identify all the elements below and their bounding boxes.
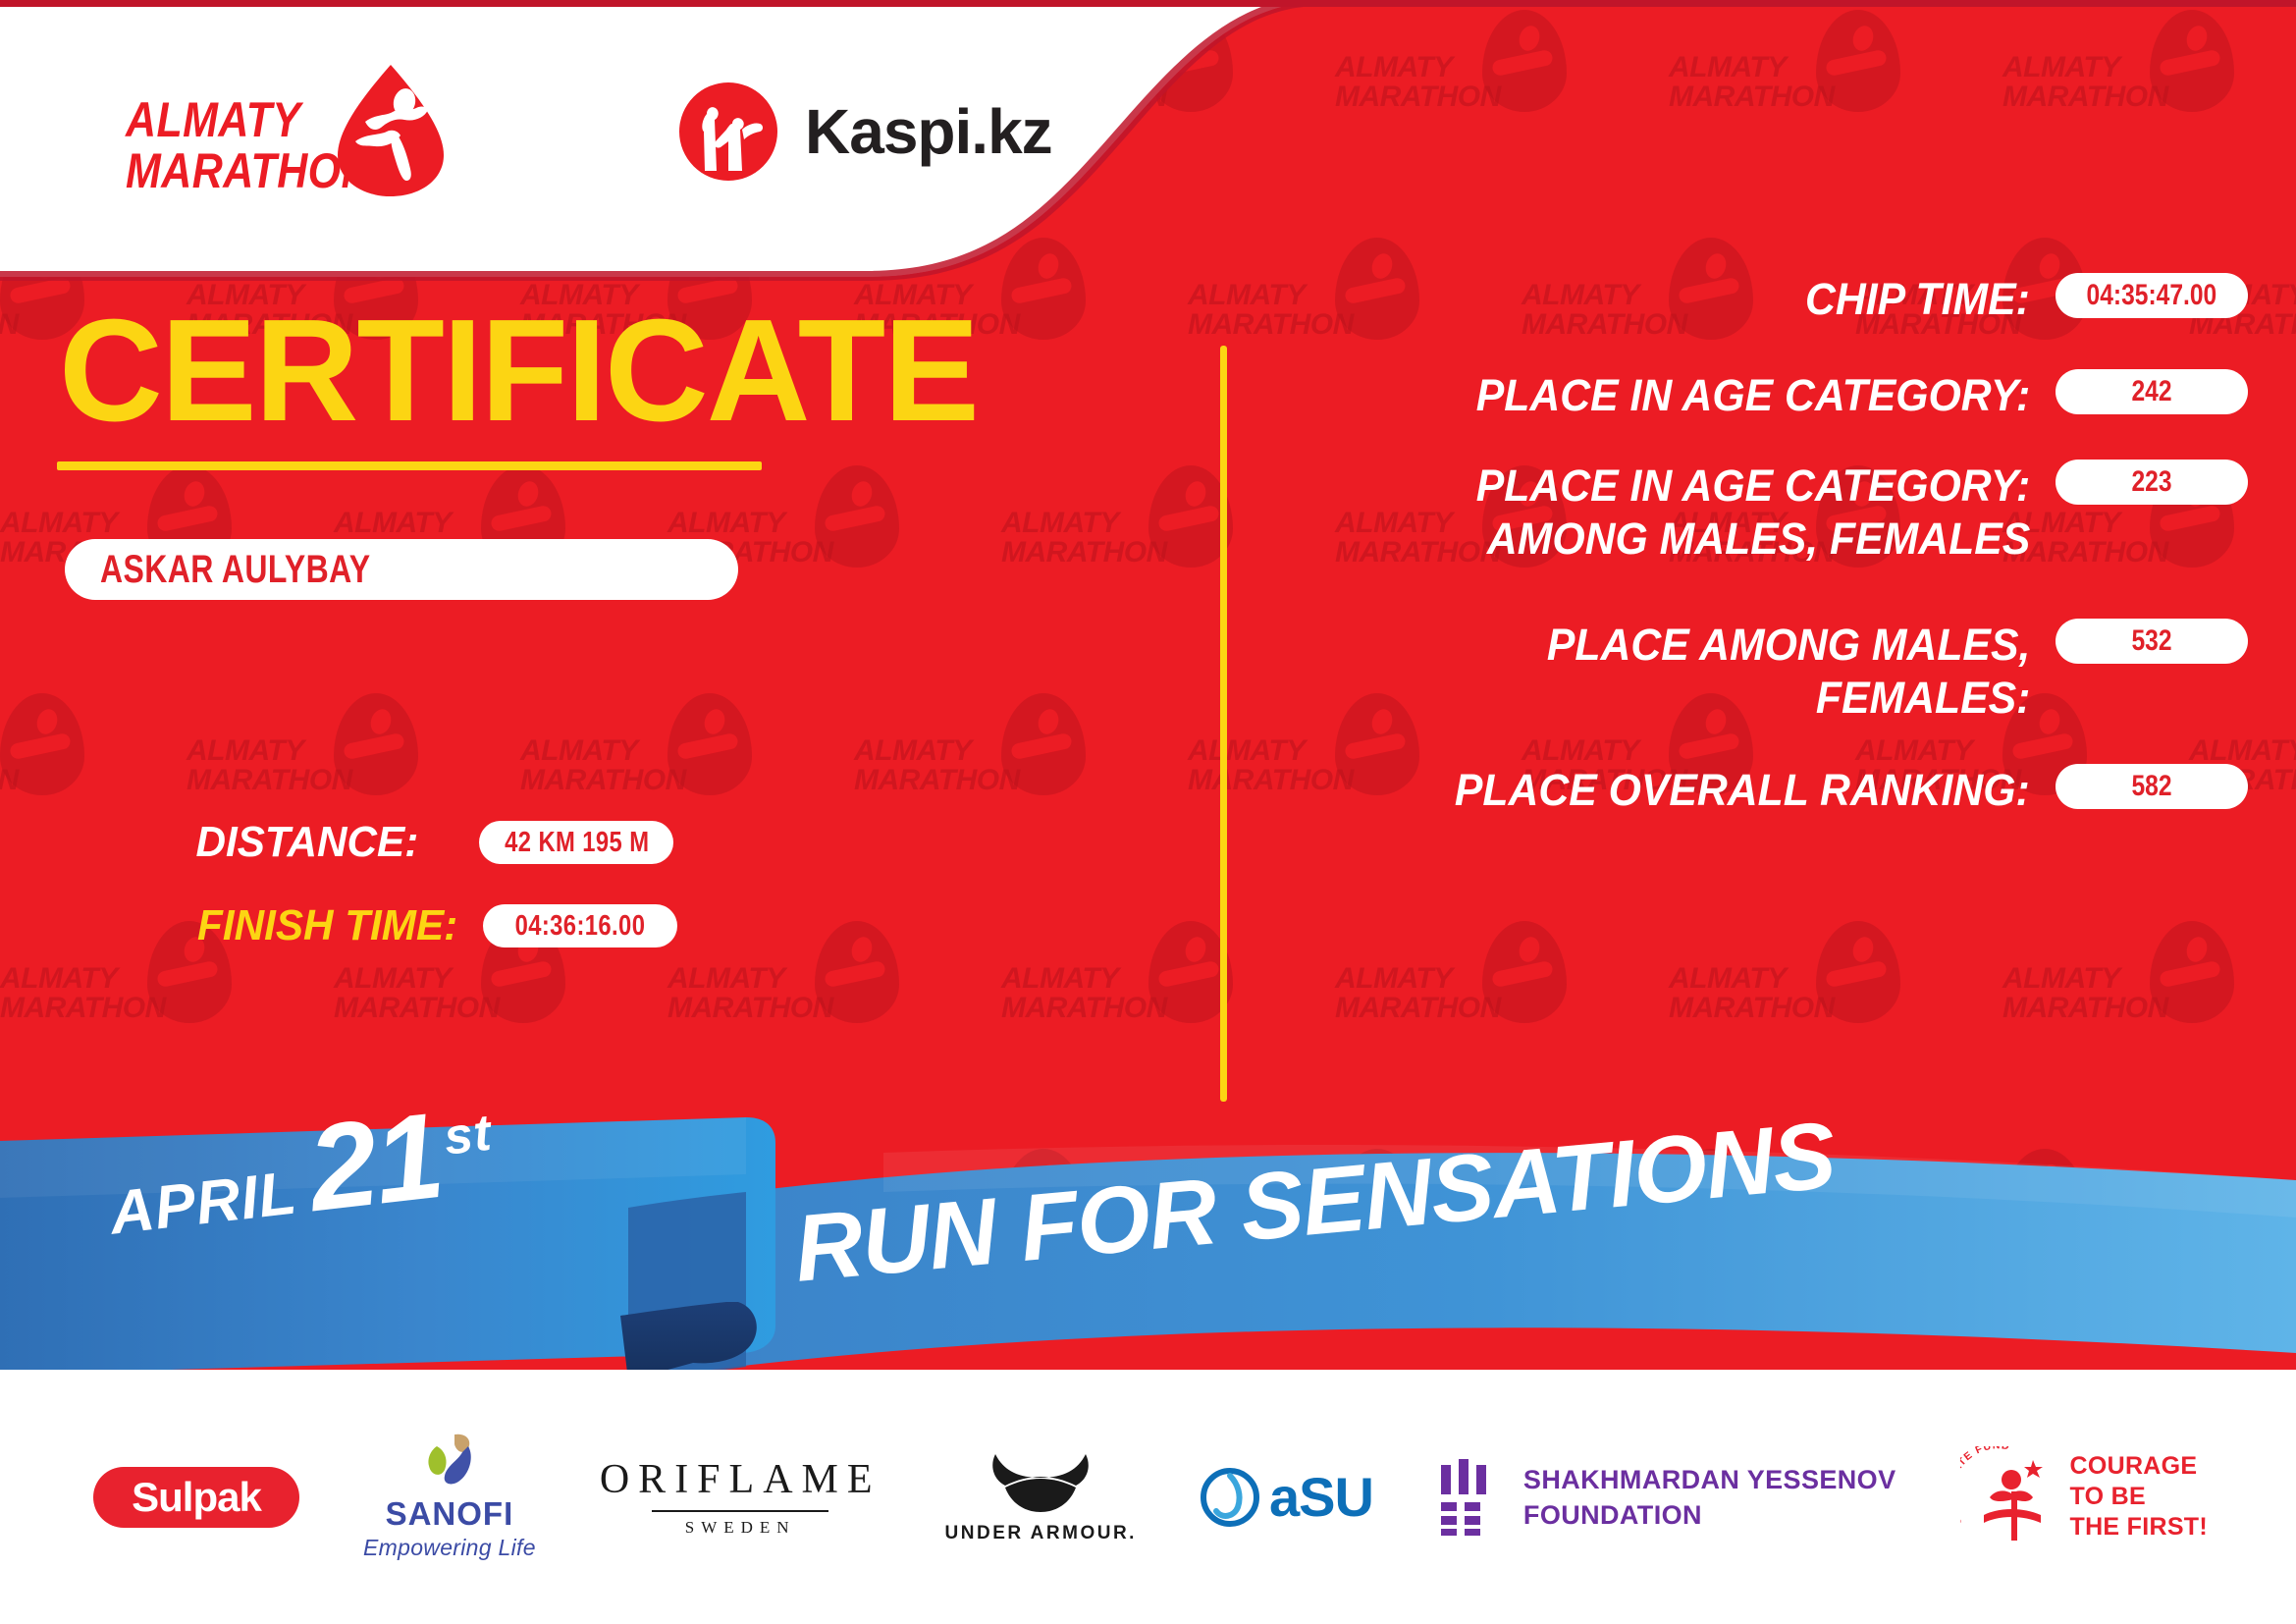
courage-fund-logo: CORPORATE FUND [1960,1446,2055,1548]
almaty-marathon-logo: ALMATY MARATHON [126,61,450,208]
stat-value: 532 [2131,624,2171,658]
header-logos: ALMATY MARATHON Kaspi.kz [0,0,1320,273]
sponsor-sanofi: SANOFI Empowering Life [363,1429,536,1566]
sponsor-courage-fund: CORPORATE FUND COURAGETO BETHE FIRST! [1960,1429,2209,1566]
stat-value-pill: 223 [2056,460,2248,505]
watermark-drop-icon [1816,10,1900,112]
under-armour-wordmark: UNDER ARMOUR. [945,1523,1137,1544]
finish-time-row: FINISH TIME: 04:36:16.00 [187,901,677,950]
watermark-tile: ALMATYMARATHON [1669,0,1963,196]
yessenov-wordmark: SHAKHMARDAN YESSENOVFOUNDATION [1523,1462,1896,1533]
stat-value-pill: 582 [2056,764,2248,809]
watermark-tile: ALMATYMARATHON [1335,0,1629,196]
distance-value-pill: 42 KM 195 M [479,821,673,864]
sanofi-logo [419,1433,480,1489]
sponsor-yessenov-foundation: SHAKHMARDAN YESSENOVFOUNDATION [1437,1429,1896,1566]
certificate-canvas: ALMATYMARATHONALMATYMARATHONALMATYMARATH… [0,0,2296,1624]
ribbon-day-suffix: st [441,1104,495,1167]
distance-row: DISTANCE: 42 KM 195 M [187,818,673,867]
title-underline [57,461,762,470]
running-figure-drop-icon [332,61,450,198]
stat-value: 04:35:47.00 [2087,279,2217,312]
stat-value-pill: 04:35:47.00 [2056,273,2248,318]
oriflame-divider [652,1510,828,1512]
athlete-name-value: ASKAR AULYBAY [100,548,370,592]
stat-value: 223 [2131,465,2171,499]
finish-time-value: 04:36:16.00 [515,910,646,943]
watermark-drop-icon [1482,10,1567,112]
certificate-title: CERTIFICATE [59,298,978,445]
stat-row-place-among-gender: PLACE AMONG MALES, FEMALES: 532 [1266,619,2248,725]
kaspi-sponsor-logo: Kaspi.kz [677,73,1052,190]
stat-row-overall-ranking: PLACE OVERALL RANKING: 582 [1266,764,2248,817]
stat-row-place-age-category: PLACE IN AGE CATEGORY: 242 [1266,369,2248,422]
stat-label: PLACE AMONG MALES, FEMALES: [1547,619,2030,725]
sponsor-sulpak: Sulpak [93,1429,299,1566]
asu-wordmark: aSU [1269,1465,1373,1529]
under-armour-logo [978,1450,1103,1515]
stat-label: PLACE IN AGE CATEGORY: AMONG MALES, FEMA… [1475,460,2030,566]
ribbon-day: 21 [303,1102,447,1223]
finish-time-label: FINISH TIME: [197,901,457,950]
sponsor-asu: aSU [1201,1429,1373,1566]
watermark-drop-icon [2150,10,2234,112]
column-divider [1220,346,1227,1102]
stat-value: 242 [2131,375,2171,408]
finish-time-value-pill: 04:36:16.00 [483,904,677,947]
watermark-text: ALMATYMARATHON [2002,53,2168,112]
stat-label: CHIP TIME: [1805,273,2030,326]
distance-value: 42 KM 195 M [505,827,649,859]
stat-value-pill: 532 [2056,619,2248,664]
athlete-name-field: ASKAR AULYBAY [65,539,738,600]
watermark-tile: ALMATYMARATHON [2002,0,2296,196]
stat-label: PLACE OVERALL RANKING: [1455,764,2030,817]
oriflame-tagline: SWEDEN [685,1518,796,1538]
sponsor-strip: Sulpak SANOFI Empowering Life ORIFLAME S… [0,1370,2296,1624]
oriflame-wordmark: ORIFLAME [600,1456,881,1503]
yessenov-foundation-logo [1437,1459,1498,1536]
stat-row-chip-time: CHIP TIME: 04:35:47.00 [1266,273,2248,326]
stat-row-place-age-category-gender: PLACE IN AGE CATEGORY: AMONG MALES, FEMA… [1266,460,2248,566]
watermark-text: ALMATYMARATHON [1335,53,1501,112]
stat-label: PLACE IN AGE CATEGORY: [1475,369,2030,422]
watermark-text: ALMATYMARATHON [1669,53,1835,112]
sponsor-oriflame: ORIFLAME SWEDEN [600,1429,881,1566]
sulpak-logo: Sulpak [93,1467,299,1528]
sanofi-tagline: Empowering Life [363,1535,536,1561]
distance-label: DISTANCE: [195,818,418,867]
sponsor-under-armour: UNDER ARMOUR. [945,1429,1137,1566]
stat-value-pill: 242 [2056,369,2248,414]
sanofi-wordmark: SANOFI [386,1495,514,1533]
kaspi-people-icon [677,81,779,183]
courage-wordmark: COURAGETO BETHE FIRST! [2070,1451,2209,1543]
asu-logo [1201,1468,1259,1527]
stat-value: 582 [2131,770,2171,803]
kaspi-wordmark: Kaspi.kz [805,95,1052,168]
